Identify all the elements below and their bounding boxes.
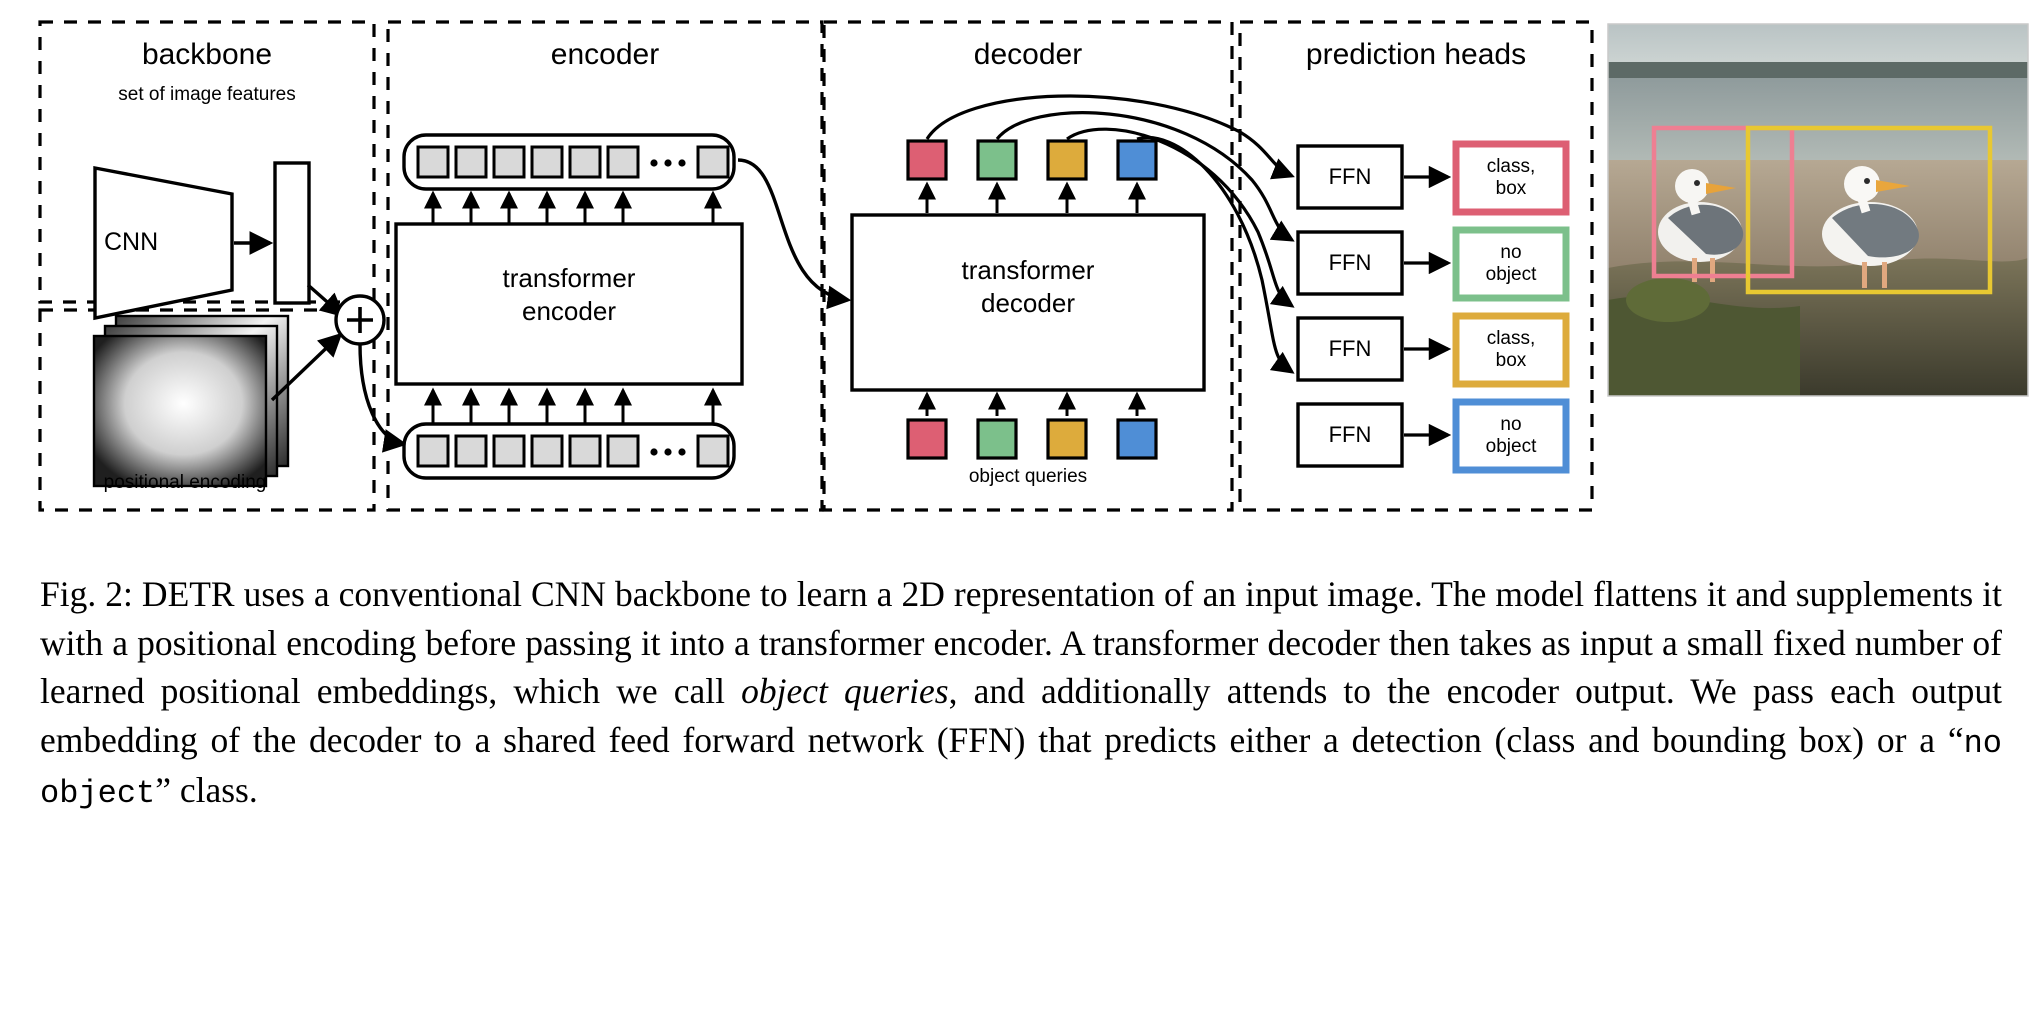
prediction-output-1-line1: class, <box>1487 156 1536 178</box>
cnn-label: CNN <box>104 228 158 257</box>
prediction-output-3-line2: box <box>1496 350 1527 372</box>
set-of-image-features-label: set of image features <box>40 84 374 106</box>
figure-caption: Fig. 2: DETR uses a conventional CNN bac… <box>40 570 2002 816</box>
positional-encoding-maps <box>94 316 288 486</box>
ffn-label-4: FFN <box>1298 404 1402 466</box>
transformer-decoder-line2: decoder <box>852 287 1204 320</box>
arrows-encoder-to-output <box>433 193 713 224</box>
panel-title-backbone: backbone <box>40 38 374 72</box>
feature-map-bar <box>275 163 309 303</box>
ffn-label-3: FFN <box>1298 318 1402 380</box>
arrow-encoder-to-decoder <box>738 160 848 300</box>
prediction-output-1: class, box <box>1456 144 1566 212</box>
ffn-label-1: FFN <box>1298 146 1402 208</box>
transformer-encoder-line1: transformer <box>396 262 742 295</box>
caption-italic-object-queries: object queries <box>741 671 948 711</box>
panel-title-encoder: encoder <box>388 38 822 72</box>
prediction-output-4-line1: no <box>1500 414 1521 436</box>
caption-prefix: Fig. 2: <box>40 574 133 614</box>
figure-page: backbone set of image features CNN posit… <box>0 0 2042 1036</box>
encoder-input-tokens <box>404 424 734 478</box>
object-queries-label: object queries <box>860 466 1196 488</box>
decoder-output-embeddings <box>908 141 1156 179</box>
arrows-queries-to-decoder <box>927 394 1137 416</box>
caption-part3: ” class. <box>155 770 258 810</box>
prediction-output-1-line2: box <box>1496 178 1527 200</box>
transformer-decoder-line1: transformer <box>852 254 1204 287</box>
detr-architecture-figure: backbone set of image features CNN posit… <box>0 0 2042 530</box>
prediction-output-2: no object <box>1456 230 1566 298</box>
panel-title-decoder: decoder <box>824 38 1232 72</box>
arrows-ffn-to-output <box>1404 177 1448 435</box>
sum-node <box>336 296 384 344</box>
arrows-decoder-to-embeddings <box>927 184 1137 213</box>
prediction-output-2-line2: object <box>1486 264 1537 286</box>
prediction-output-3: class, box <box>1456 316 1566 384</box>
prediction-output-3-line1: class, <box>1487 328 1536 350</box>
prediction-output-2-line1: no <box>1500 242 1521 264</box>
transformer-encoder-line2: encoder <box>396 295 742 328</box>
encoder-output-tokens <box>404 135 734 189</box>
transformer-decoder-label: transformer decoder <box>852 254 1204 321</box>
positional-encoding-label: positional encoding <box>40 472 330 494</box>
example-photo <box>1608 24 2028 396</box>
transformer-encoder-label: transformer encoder <box>396 262 742 329</box>
prediction-output-4: no object <box>1456 402 1566 470</box>
prediction-output-4-line2: object <box>1486 436 1537 458</box>
panel-title-prediction-heads: prediction heads <box>1240 38 1592 72</box>
object-query-embeddings <box>908 420 1156 458</box>
ffn-label-2: FFN <box>1298 232 1402 294</box>
